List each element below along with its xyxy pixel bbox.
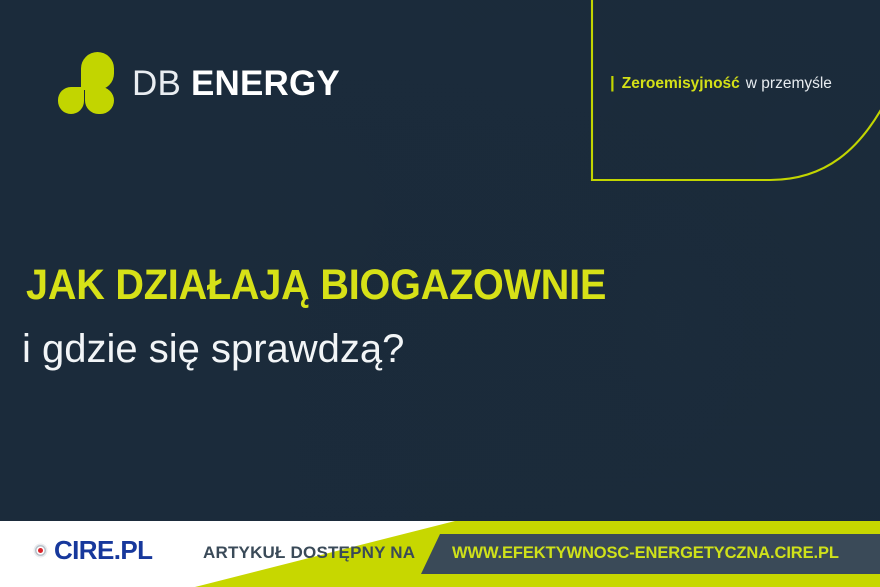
footer-bar: CIRE.PL ARTYKUŁ DOSTĘPNY NA WWW.EFEKTYWN… [0,521,880,587]
db-energy-trefoil-icon [58,52,114,114]
tagline-separator: | [610,74,615,91]
db-energy-wordmark: DB ENERGY [132,66,340,101]
tagline-plain-text: w przemyśle [746,76,832,92]
promo-banner: DB ENERGY | Zeroemisyjność w przemyśle J… [0,0,880,587]
cire-logo[interactable]: CIRE.PL [32,537,152,563]
corner-frame-decoration [560,0,880,196]
logo-petal-left [58,87,84,114]
article-url-link[interactable]: WWW.EFEKTYWNOSC-ENERGETYCZNA.CIRE.PL [452,544,839,563]
cire-wordmark: CIRE.PL [54,537,152,563]
cire-target-icon [32,542,49,559]
tagline: | Zeroemisyjność w przemyśle [610,74,832,92]
logo-petal-top [81,52,114,90]
headline-secondary: i gdzie się sprawdzą? [22,326,404,372]
logo-word-energy: ENERGY [191,64,340,103]
logo-word-db: DB [132,64,181,103]
db-energy-logo[interactable]: DB ENERGY [58,52,340,114]
headline-primary: JAK DZIAŁAJĄ BIOGAZOWNIE [26,264,606,307]
article-available-label: ARTYKUŁ DOSTĘPNY NA [203,543,415,563]
tagline-accent-text: Zeroemisyjność [622,76,740,92]
logo-petal-right [85,87,114,114]
